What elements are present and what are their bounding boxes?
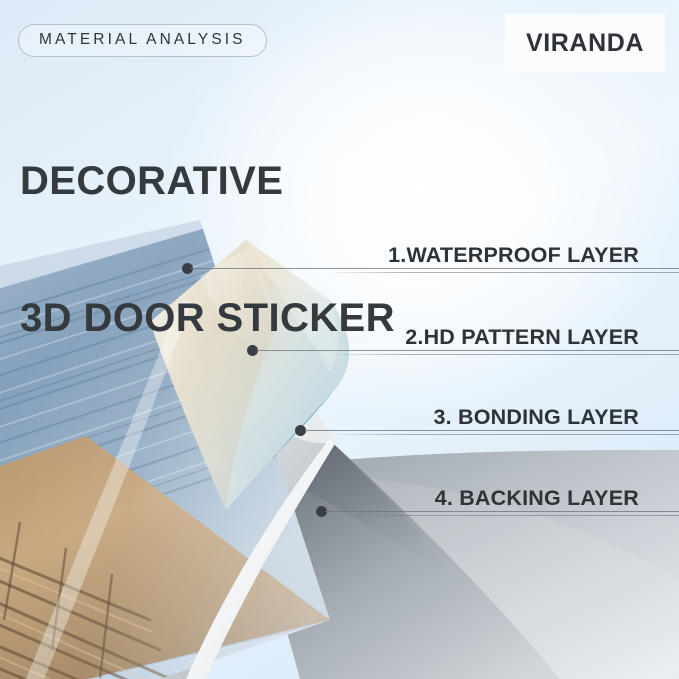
- brand-name: VIRANDA: [526, 29, 644, 58]
- poster-canvas: MATERIAL ANALYSIS DECORATIVE 3D DOOR STI…: [0, 0, 679, 679]
- page-title: DECORATIVE 3D DOOR STICKER: [20, 68, 395, 433]
- eyebrow-label: MATERIAL ANALYSIS: [39, 31, 246, 48]
- brand-logo-box: VIRANDA: [505, 14, 665, 72]
- page-title-line2: 3D DOOR STICKER: [20, 296, 395, 342]
- page-title-line1: DECORATIVE: [20, 159, 395, 205]
- eyebrow-badge: MATERIAL ANALYSIS: [18, 24, 267, 57]
